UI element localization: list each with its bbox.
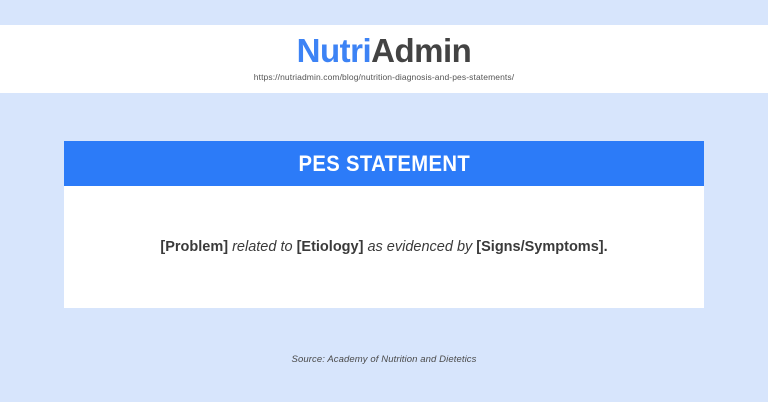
article-url: https://nutriadmin.com/blog/nutrition-di… [254,72,514,82]
brand-logo: NutriAdmin [297,32,472,70]
statement-problem: [Problem] [160,239,228,255]
pes-statement-formula: [Problem] related to [Etiology] as evide… [160,237,607,257]
pes-statement-card-header: PES STATEMENT [64,141,704,186]
statement-etiology: [Etiology] [297,239,364,255]
source-attribution: Source: Academy of Nutrition and Dieteti… [0,354,768,365]
page-title: PES STATEMENT [298,151,470,177]
statement-signs-symptoms: [Signs/Symptoms]. [476,239,607,255]
statement-connector-related-to: related to [232,239,292,255]
statement-connector-as-evidenced-by: as evidenced by [367,239,472,255]
brand-logo-admin: Admin [371,32,471,69]
pes-statement-card-body: [Problem] related to [Etiology] as evide… [64,186,704,308]
site-header-band: NutriAdmin https://nutriadmin.com/blog/n… [0,25,768,93]
brand-logo-nutri: Nutri [297,32,372,69]
pes-statement-card: PES STATEMENT [Problem] related to [Etio… [64,141,704,308]
